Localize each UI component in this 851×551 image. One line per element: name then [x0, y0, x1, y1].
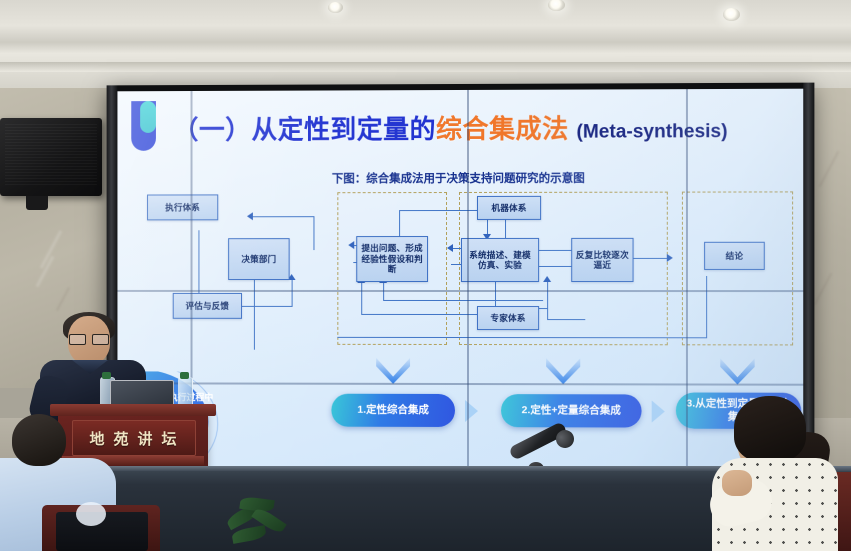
diagram-box-conclusion: 结论	[704, 242, 765, 270]
slide-title-prefix: （一）从定性到定量的	[173, 114, 436, 145]
diagram-box-iterate-approach: 反复比较逐次逼近	[571, 238, 633, 282]
chair-emblem	[76, 502, 106, 526]
step-pill-1: 1.定性综合集成	[331, 394, 455, 427]
audience-right-hair	[734, 396, 806, 462]
slide-subtitle: 下图：综合集成法用于决策支持问题研究的示意图	[117, 169, 803, 186]
diagram-box-decision-dept: 决策部门	[228, 238, 289, 280]
bottle-cap	[102, 372, 111, 379]
step-arrow-icon	[652, 400, 665, 422]
diagram-box-exec-system: 执行体系	[147, 194, 218, 220]
video-wall-seam	[117, 290, 803, 292]
glasses-icon	[69, 334, 109, 343]
video-wall-seam	[467, 90, 469, 471]
slide-title-english: (Meta-synthesis)	[577, 121, 728, 143]
diagram-box-raise-question: 提出问题、形成经验性假设和判断	[356, 236, 428, 282]
diagram-box-system-model: 系统描述、建模仿真、实验	[461, 238, 539, 282]
wall-speaker-icon	[0, 118, 102, 196]
podium-sign-char-4: 坛	[162, 428, 179, 449]
potted-plant	[226, 492, 290, 551]
speaker-mount	[26, 196, 48, 210]
video-wall-seam	[686, 89, 688, 472]
diagram-box-machine-system: 机器体系	[477, 196, 541, 220]
downlight-icon	[328, 2, 343, 13]
lecture-hall-scene: （一）从定性到定量的综合集成法 (Meta-synthesis) 下图：综合集成…	[0, 0, 851, 551]
u-mark-logo-icon	[131, 101, 156, 151]
slide-title-highlight: 综合集成法	[436, 114, 569, 144]
audience-left-head	[12, 414, 66, 466]
slide-title: （一）从定性到定量的综合集成法 (Meta-synthesis)	[173, 108, 728, 147]
audience-member-right	[726, 396, 851, 551]
podium-sign-char-3: 讲	[138, 428, 155, 449]
audience-right-hand	[722, 470, 752, 496]
presentation-screen: （一）从定性到定量的综合集成法 (Meta-synthesis) 下图：综合集成…	[117, 89, 803, 473]
downlight-icon	[723, 8, 740, 21]
step-pill-2: 2.定性+定量综合集成	[501, 394, 642, 427]
video-wall: （一）从定性到定量的综合集成法 (Meta-synthesis) 下图：综合集成…	[107, 83, 813, 478]
bottle-cap	[180, 372, 189, 379]
diagram-box-eval-feedback: 评估与反馈	[173, 293, 242, 319]
flow-diagram: 执行体系 决策部门 评估与反馈 提出问题、形成经验性假设和判断 机器体系 系统描…	[117, 187, 803, 368]
diagram-box-expert-system: 专家体系	[477, 306, 539, 330]
ceiling-cornice	[0, 62, 851, 72]
